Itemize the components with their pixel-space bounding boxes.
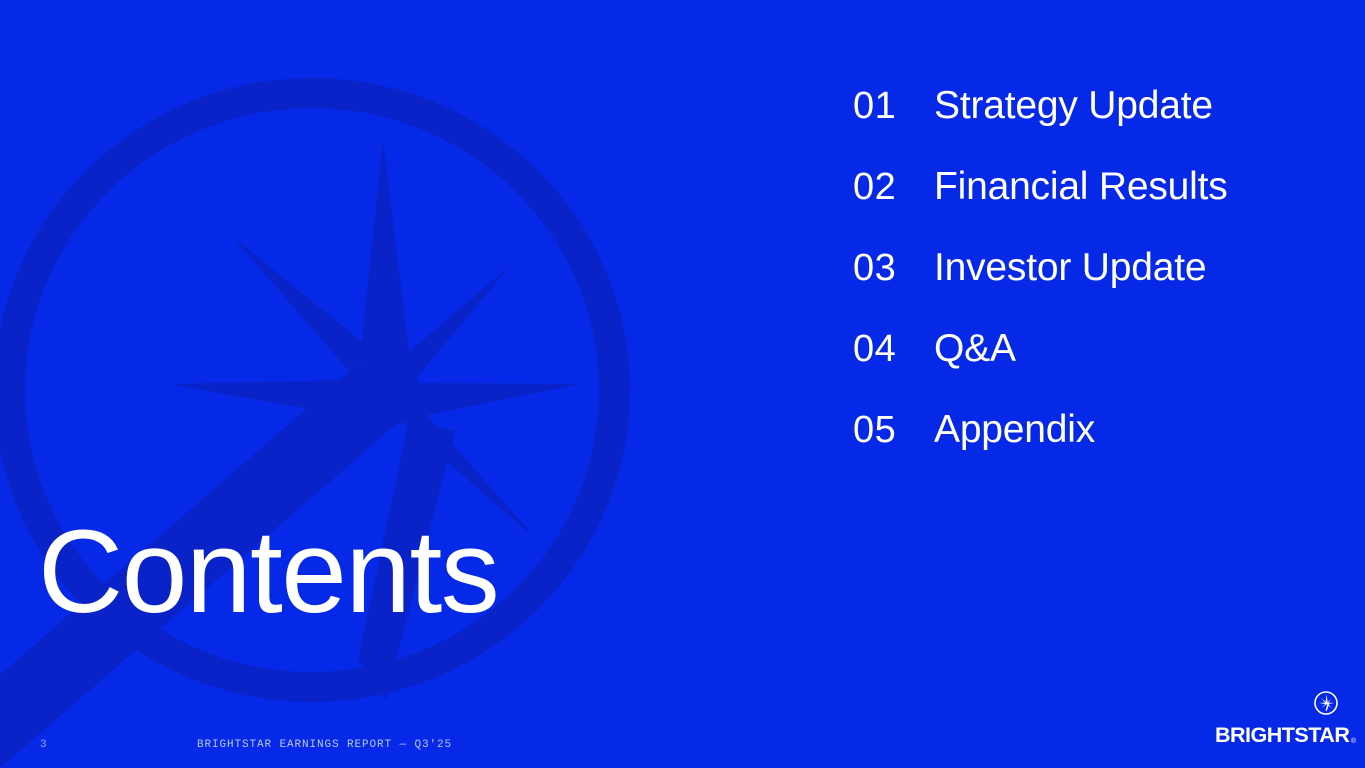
brand-logo: BRIGHTSTAR ® <box>1215 690 1339 746</box>
toc-item-number: 05 <box>853 411 934 449</box>
toc-item-05[interactable]: 05 Appendix <box>853 410 1323 491</box>
toc-item-label: Appendix <box>934 410 1095 449</box>
table-of-contents: 01 Strategy Update 02 Financial Results … <box>853 86 1323 491</box>
page-number: 3 <box>40 739 47 751</box>
toc-item-number: 03 <box>853 249 934 287</box>
logo-wordmark: BRIGHTSTAR ® <box>1215 725 1356 747</box>
presentation-slide: Contents 01 Strategy Update 02 Financial… <box>0 0 1365 768</box>
footer-deck-title: BRIGHTSTAR EARNINGS REPORT — Q3'25 <box>197 739 452 751</box>
page-title: Contents <box>38 513 498 631</box>
toc-item-number: 04 <box>853 330 934 368</box>
toc-item-01[interactable]: 01 Strategy Update <box>853 86 1323 167</box>
logo-wordmark-text: BRIGHTSTAR <box>1215 725 1349 747</box>
registered-trademark-mark: ® <box>1351 738 1356 745</box>
toc-item-04[interactable]: 04 Q&A <box>853 329 1323 410</box>
toc-item-03[interactable]: 03 Investor Update <box>853 248 1323 329</box>
toc-item-label: Investor Update <box>934 248 1206 287</box>
toc-item-number: 01 <box>853 87 934 125</box>
compass-star-icon <box>1313 690 1339 716</box>
toc-item-02[interactable]: 02 Financial Results <box>853 167 1323 248</box>
toc-item-label: Strategy Update <box>934 86 1213 125</box>
toc-item-label: Financial Results <box>934 167 1228 206</box>
toc-item-number: 02 <box>853 168 934 206</box>
toc-item-label: Q&A <box>934 329 1016 368</box>
